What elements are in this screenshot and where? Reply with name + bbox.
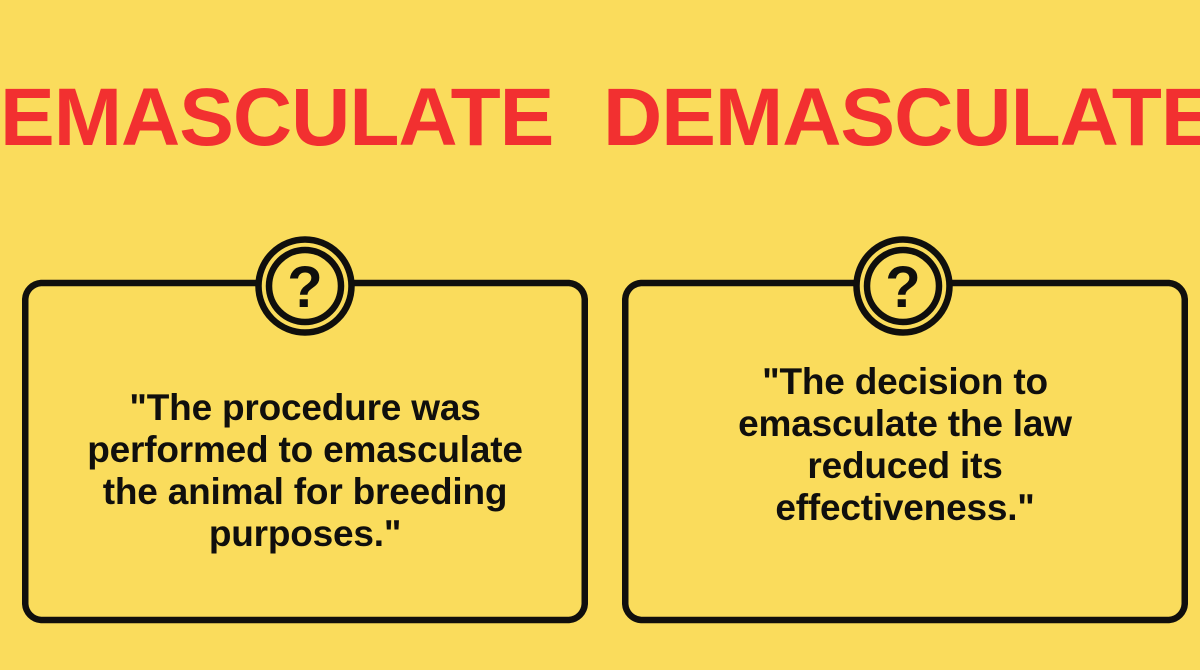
- example-sentence-emasculate: "The procedure was performed to emascula…: [36, 387, 574, 555]
- definition-card-emasculate: ? "The procedure was performed to emascu…: [22, 237, 588, 623]
- example-sentence-demasculate: "The decision to emasculate the law redu…: [636, 361, 1174, 529]
- comparison-graphic: EMASCULATE ? "The procedure was performe…: [0, 0, 1200, 670]
- question-mark-icon: ?: [287, 255, 322, 320]
- definition-card-demasculate: ? "The decision to emasculate the law re…: [622, 237, 1188, 623]
- question-mark-icon: ?: [885, 255, 920, 320]
- heading-emasculate: EMASCULATE: [0, 76, 552, 160]
- heading-demasculate: DEMASCULATE: [603, 76, 1200, 160]
